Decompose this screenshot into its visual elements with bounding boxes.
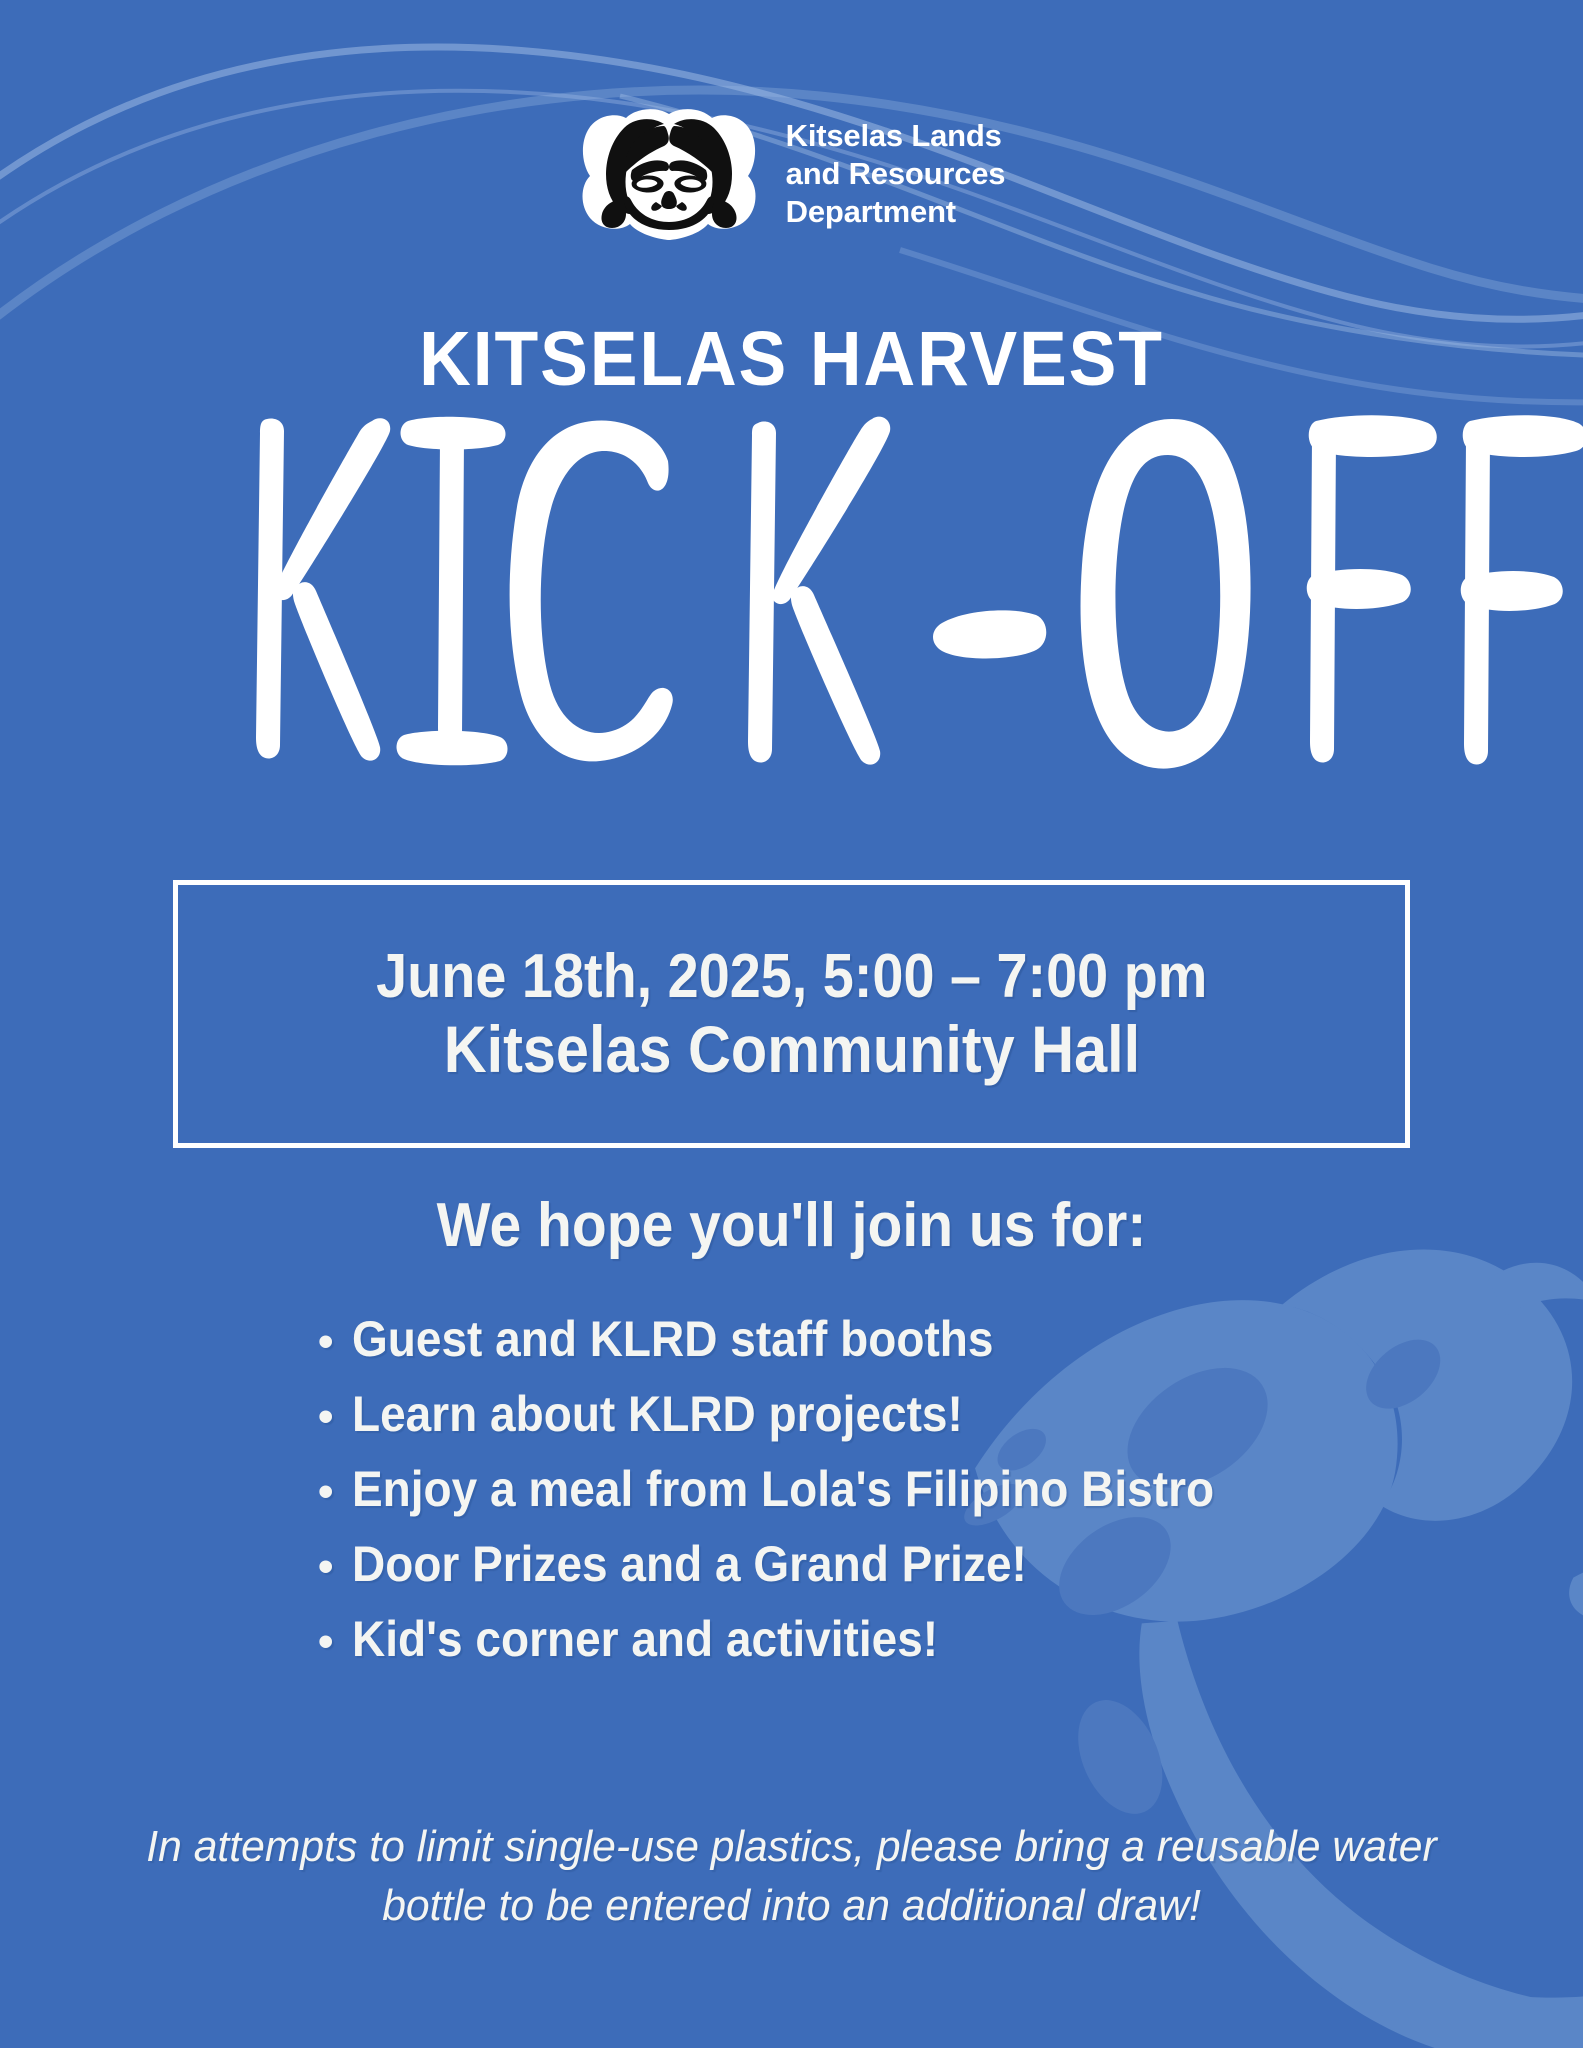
bullet-icon: • — [318, 1620, 352, 1664]
list-item-label: Guest and KLRD staff booths — [352, 1310, 993, 1369]
activities-list: • Guest and KLRD staff booths • Learn ab… — [0, 1310, 1583, 1685]
activities-heading: We hope you'll join us for: — [63, 1190, 1519, 1261]
list-item-label: Door Prizes and a Grand Prize! — [352, 1535, 1027, 1594]
eco-reminder-note: In attempts to limit single-use plastics… — [140, 1818, 1443, 1935]
bullet-icon: • — [318, 1470, 352, 1514]
list-item: • Enjoy a meal from Lola's Filipino Bist… — [0, 1460, 1583, 1519]
organization-name: Kitselas Lands and Resources Department — [786, 117, 1006, 231]
event-details-box: June 18th, 2025, 5:00 – 7:00 pm Kitselas… — [173, 880, 1410, 1148]
list-item: • Door Prizes and a Grand Prize! — [0, 1535, 1583, 1594]
organization-header: Kitselas Lands and Resources Department — [0, 108, 1583, 240]
event-venue: Kitselas Community Hall — [443, 1012, 1139, 1087]
event-poster: Kitselas Lands and Resources Department … — [0, 0, 1583, 2048]
event-datetime: June 18th, 2025, 5:00 – 7:00 pm — [376, 942, 1207, 1012]
bullet-icon: • — [318, 1395, 352, 1439]
list-item: • Kid's corner and activities! — [0, 1610, 1583, 1669]
poster-eyebrow-title: KITSELAS HARVEST — [55, 315, 1527, 404]
list-item-label: Kid's corner and activities! — [352, 1610, 938, 1669]
kitselas-orca-crest-logo-icon — [578, 108, 760, 240]
list-item: • Learn about KLRD projects! — [0, 1385, 1583, 1444]
list-item-label: Enjoy a meal from Lola's Filipino Bistro — [352, 1460, 1214, 1519]
bullet-icon: • — [318, 1320, 352, 1364]
list-item-label: Learn about KLRD projects! — [352, 1385, 963, 1444]
list-item: • Guest and KLRD staff booths — [0, 1310, 1583, 1369]
poster-main-title: KICK-OFF — [0, 405, 1583, 775]
bullet-icon: • — [318, 1545, 352, 1589]
